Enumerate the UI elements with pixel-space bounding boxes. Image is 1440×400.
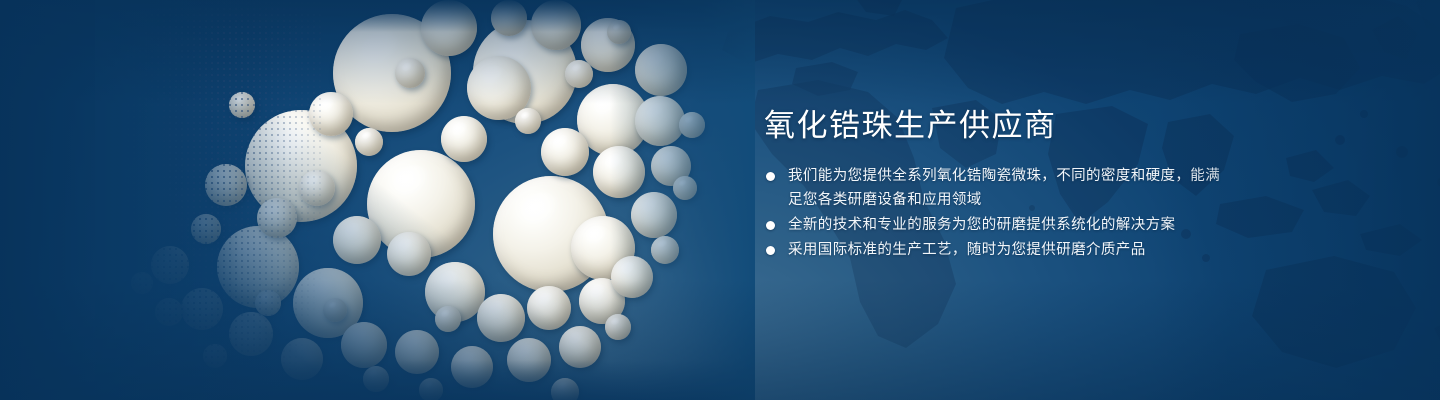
edge-vignette — [0, 0, 1440, 400]
hero-banner: 氧化锆珠生产供应商 我们能为您提供全系列氧化锆陶瓷微珠，不同的密度和硬度，能满足… — [0, 0, 1440, 400]
